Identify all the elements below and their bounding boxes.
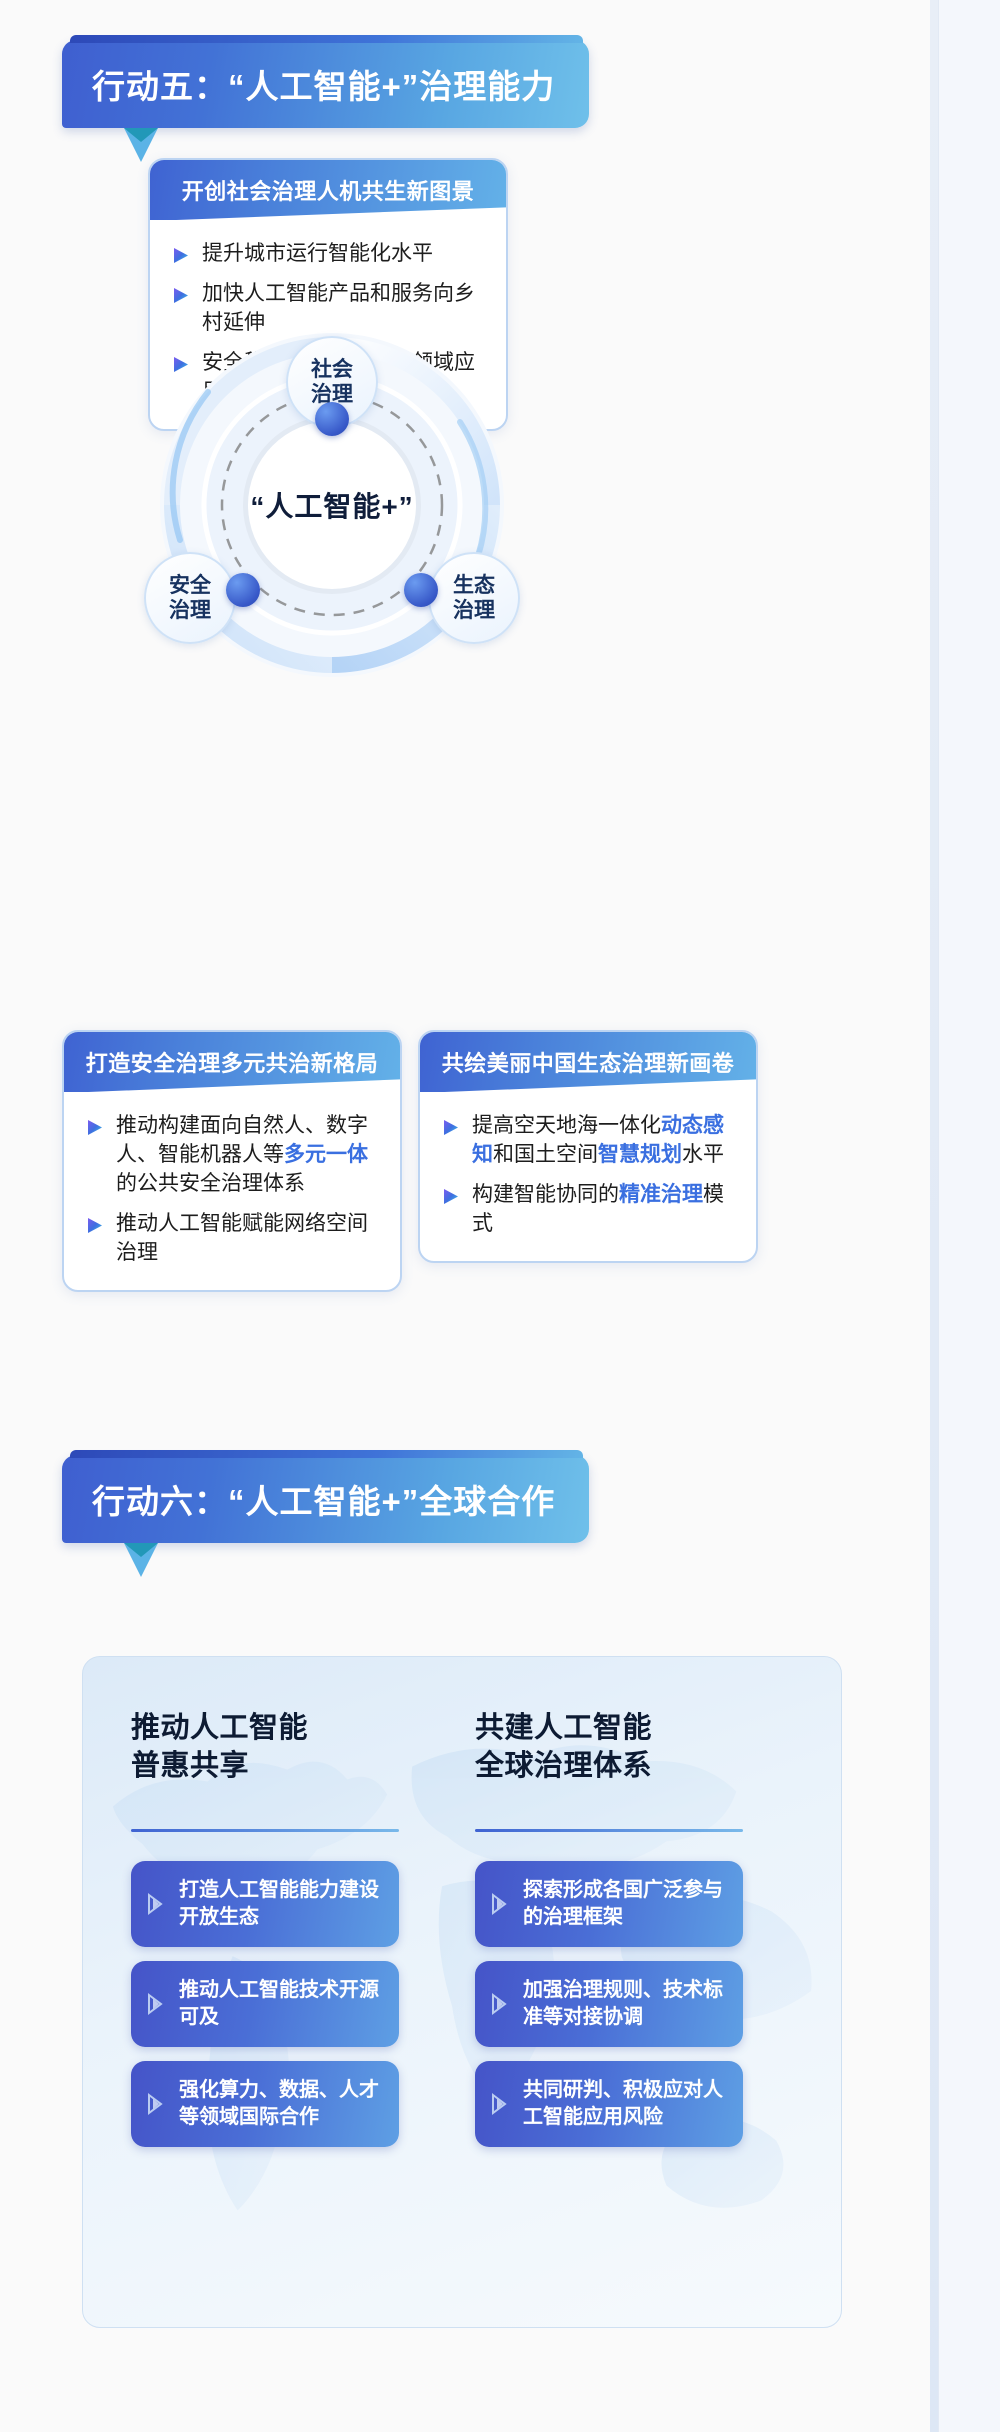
node-dot-security: [226, 573, 260, 607]
section-six-banner-wrap: 行动六：“人工智能+”全球合作: [62, 1455, 589, 1543]
pill-label: 打造人工智能能力建设开放生态: [179, 1877, 385, 1931]
triangle-bullet-icon: [172, 245, 190, 264]
ecology-governance-bullet-list: 提高空天地海一体化动态感知和国土空间智慧规划水平 构建智能协同的精准治理模式: [440, 1112, 734, 1239]
pill-governance-3: 共同研判、积极应对人工智能应用风险: [475, 2061, 743, 2147]
pill-label: 探索形成各国广泛参与的治理框架: [523, 1877, 729, 1931]
node-security-governance: 安全 治理: [144, 552, 236, 644]
list-item-text: 的公共安全治理体系: [116, 1172, 305, 1195]
social-governance-card-title: 开创社会治理人机共生新图景: [182, 174, 475, 206]
node-label-line1: 安全: [169, 573, 211, 598]
column-global-governance-title: 共建人工智能 全球治理体系: [475, 1709, 775, 1786]
highlight-text: 智慧规划: [598, 1143, 682, 1166]
list-item-text: 和国土空间: [493, 1143, 598, 1166]
security-governance-card-body: 推动构建面向自然人、数字人、智能机器人等多元一体的公共安全治理体系 推动人工智能…: [64, 1092, 400, 1290]
column-two-divider: [475, 1829, 743, 1832]
chevron-right-icon: [489, 2092, 511, 2116]
chevron-right-icon: [145, 2092, 167, 2116]
column-title-line2: 全球治理体系: [475, 1747, 775, 1785]
ecology-governance-card-title: 共绘美丽中国生态治理新画卷: [442, 1046, 735, 1078]
banner-tail-six: [124, 1543, 158, 1577]
governance-circle-diagram: “人工智能+” 社会 治理 安全 治理 生态 治理: [40, 330, 600, 680]
highlight-text: 多元一体: [284, 1143, 368, 1166]
chevron-right-icon: [489, 1892, 511, 1916]
section-five-banner-wrap: 行动五：“人工智能+”治理能力: [62, 40, 589, 128]
list-item-text: 构建智能协同的: [472, 1183, 619, 1206]
security-governance-card-header: 打造安全治理多元共治新格局: [64, 1032, 400, 1092]
list-item-text: 水平: [682, 1143, 724, 1166]
node-dot-ecology: [404, 573, 438, 607]
list-item: 提升城市运行智能化水平: [170, 240, 484, 269]
pill-label: 推动人工智能技术开源可及: [179, 1977, 385, 2031]
diagram-hub: “人工智能+”: [248, 421, 416, 589]
global-cooperation-panel: 推动人工智能 普惠共享 打造人工智能能力建设开放生态: [82, 1656, 842, 2328]
node-label-line1: 社会: [311, 357, 353, 382]
list-item-text: 提高空天地海一体化: [472, 1114, 661, 1137]
diagram-hub-label: “人工智能+”: [250, 485, 413, 525]
list-item: 推动人工智能赋能网络空间治理: [84, 1210, 378, 1268]
pill-label: 强化算力、数据、人才等领域国际合作: [179, 2077, 385, 2131]
triangle-bullet-icon: [172, 285, 190, 304]
chevron-right-icon: [145, 1992, 167, 2016]
security-governance-card: 打造安全治理多元共治新格局 推动构建面向自然人、数字人、智能机器人等多元一体的公…: [62, 1030, 402, 1292]
infographic-page: 行动五：“人工智能+”治理能力 开创社会治理人机共生新图景: [0, 0, 1000, 2432]
node-label-line2: 治理: [453, 598, 495, 623]
pill-inclusive-2: 推动人工智能技术开源可及: [131, 1961, 399, 2047]
pill-inclusive-3: 强化算力、数据、人才等领域国际合作: [131, 2061, 399, 2147]
banner-tail-five: [124, 128, 158, 162]
pill-inclusive-1: 打造人工智能能力建设开放生态: [131, 1861, 399, 1947]
security-governance-bullet-list: 推动构建面向自然人、数字人、智能机器人等多元一体的公共安全治理体系 推动人工智能…: [84, 1112, 378, 1268]
column-title-line1: 共建人工智能: [475, 1709, 775, 1747]
pill-governance-2: 加强治理规则、技术标准等对接协调: [475, 1961, 743, 2047]
node-label-line1: 生态: [453, 573, 495, 598]
triangle-bullet-icon: [442, 1186, 460, 1205]
chevron-right-icon: [145, 1892, 167, 1916]
right-rail-inner: [938, 0, 1000, 2432]
section-six-banner: 行动六：“人工智能+”全球合作: [62, 1455, 589, 1543]
node-label-line2: 治理: [169, 598, 211, 623]
list-item-label: 提升城市运行智能化水平: [202, 242, 433, 265]
triangle-bullet-icon: [442, 1117, 460, 1136]
security-governance-card-title: 打造安全治理多元共治新格局: [86, 1046, 379, 1078]
pill-label: 加强治理规则、技术标准等对接协调: [523, 1977, 729, 2031]
ecology-governance-card: 共绘美丽中国生态治理新画卷 提高空天地海一体化动态感知和国土空间智慧规划水平: [418, 1030, 758, 1263]
social-governance-card-header: 开创社会治理人机共生新图景: [150, 160, 506, 220]
column-title-line2: 普惠共享: [131, 1747, 421, 1785]
node-ecology-governance: 生态 治理: [428, 552, 520, 644]
column-one-divider: [131, 1829, 399, 1832]
chevron-right-icon: [489, 1992, 511, 2016]
ecology-governance-card-body: 提高空天地海一体化动态感知和国土空间智慧规划水平 构建智能协同的精准治理模式: [420, 1092, 756, 1261]
triangle-bullet-icon: [86, 1117, 104, 1136]
highlight-text: 精准治理: [619, 1183, 703, 1206]
column-title-line1: 推动人工智能: [131, 1709, 421, 1747]
pill-label: 共同研判、积极应对人工智能应用风险: [523, 2077, 729, 2131]
list-item: 提高空天地海一体化动态感知和国土空间智慧规划水平: [440, 1112, 734, 1170]
section-five-banner: 行动五：“人工智能+”治理能力: [62, 40, 589, 128]
list-item-label: 加快人工智能产品和服务向乡村延伸: [202, 282, 475, 334]
page-frame: 行动五：“人工智能+”治理能力 开创社会治理人机共生新图景: [0, 0, 930, 2432]
column-inclusive-sharing-title: 推动人工智能 普惠共享: [131, 1709, 421, 1786]
section-five-banner-label: 行动五：“人工智能+”治理能力: [92, 68, 555, 105]
list-item-text: 推动人工智能赋能网络空间治理: [116, 1212, 368, 1264]
triangle-bullet-icon: [86, 1215, 104, 1234]
ecology-governance-card-header: 共绘美丽中国生态治理新画卷: [420, 1032, 756, 1092]
right-rail: [930, 0, 1000, 2432]
list-item: 构建智能协同的精准治理模式: [440, 1181, 734, 1239]
pill-governance-1: 探索形成各国广泛参与的治理框架: [475, 1861, 743, 1947]
section-six-banner-label: 行动六：“人工智能+”全球合作: [92, 1483, 555, 1520]
list-item: 推动构建面向自然人、数字人、智能机器人等多元一体的公共安全治理体系: [84, 1112, 378, 1199]
node-dot-social: [315, 402, 349, 436]
